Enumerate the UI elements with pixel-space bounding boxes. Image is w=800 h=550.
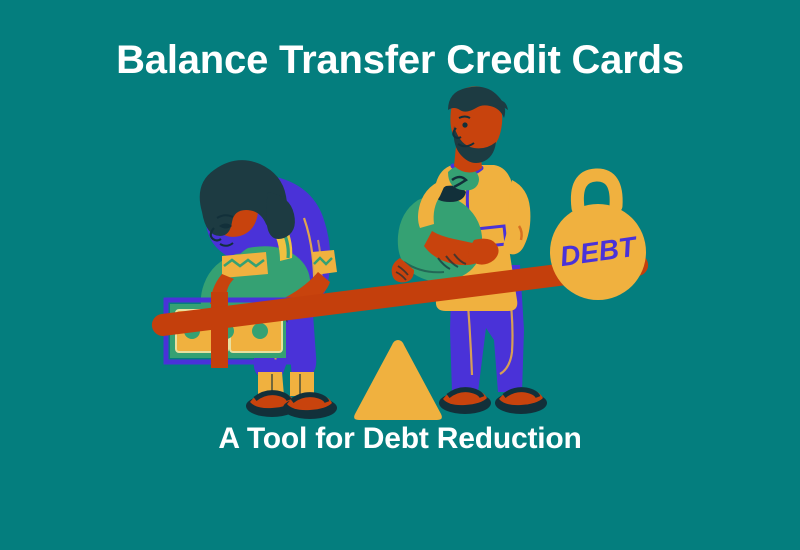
- man-eye: [462, 122, 467, 127]
- poster-canvas: DEBT Balance Transfer Credit Cards A Too…: [0, 0, 800, 550]
- page-title: Balance Transfer Credit Cards: [0, 36, 800, 84]
- banknote-right-mark: [252, 323, 268, 339]
- money-bundle-band: [211, 292, 228, 368]
- woman-blouse-trim: [222, 252, 268, 278]
- page-subtitle: A Tool for Debt Reduction: [0, 420, 800, 458]
